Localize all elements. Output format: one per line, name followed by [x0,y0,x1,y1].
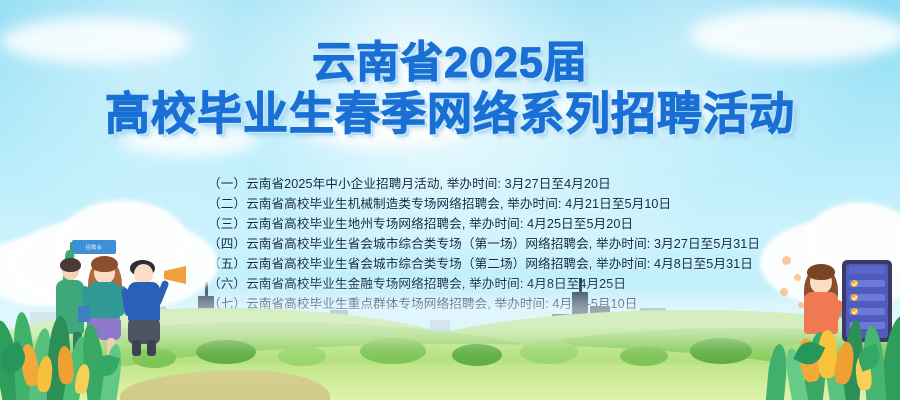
tablet-header-row [849,266,885,274]
woman-skirt [87,318,121,340]
checkmark-icon [851,322,858,329]
cloud-mid-center-icon [300,108,470,148]
list-item: （三）云南省高校毕业生地州专场网络招聘会, 举办时间: 4月25日至5月20日 [208,214,868,234]
left-graduates-illustration: 招聘会 [30,236,200,356]
sparkle-icon [782,256,791,265]
cloud-top-left-icon [0,18,190,64]
checkmark-icon [851,294,858,301]
tablet-screen [846,264,888,338]
recruitment-banner: 云南省2025届 高校毕业生春季网络系列招聘活动 （一）云南省2025年中小企业… [0,0,900,400]
list-item: （二）云南省高校毕业生机械制造类专场网络招聘会, 举办时间: 4月21日至5月1… [208,194,868,214]
woman-top [88,282,120,320]
cloud-mid-left-icon [120,126,260,156]
checkmark-icon [851,308,858,315]
list-item: （一）云南省2025年中小企业招聘月活动, 举办时间: 3月27日至4月20日 [208,174,868,194]
flag-label: 招聘会 [86,244,103,251]
ground-base [0,364,900,400]
recruitment-flag-icon: 招聘会 [72,240,116,254]
green-figure-hair [60,258,81,272]
tulip-icon [854,355,872,390]
man-head [134,264,153,284]
sparkle-icon [780,288,788,296]
sparkle-icon [794,274,801,281]
dirt-path [120,370,330,400]
right-girl-illustration [780,248,900,358]
cloud-top-right-icon [690,8,900,62]
book-icon [78,306,90,322]
cloud-mid-right-icon [540,92,740,126]
checkmark-icon [851,280,858,287]
tablet-device-icon [842,260,892,342]
